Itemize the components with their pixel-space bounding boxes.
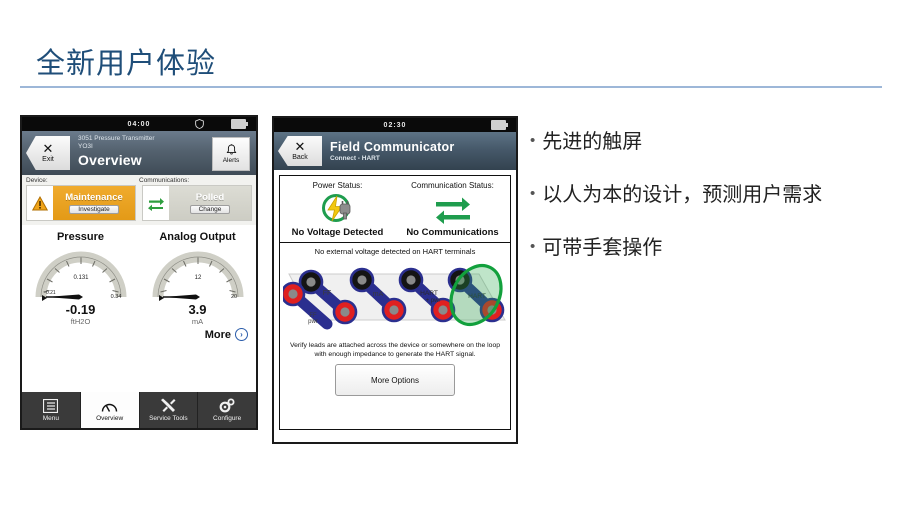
communication-status-value: No Communications [395, 227, 510, 238]
battery-icon [231, 119, 246, 129]
gauge-pressure: Pressure 0.131 [22, 231, 139, 326]
terminal-group-hart-highlighted: HART [441, 258, 511, 333]
gears-icon [219, 398, 235, 413]
device-status-value: Maintenance [65, 192, 123, 203]
menu-icon [43, 399, 58, 413]
battery-icon [491, 120, 506, 130]
gauge-pressure-mid-tick: 0.131 [73, 275, 89, 281]
strip-labels: Device: Communications: [26, 177, 252, 184]
bullet-text: 可带手套操作 [542, 234, 662, 261]
gauges-row: Pressure 0.131 [22, 225, 256, 326]
gauge-analog-output: Analog Output 12 [139, 231, 256, 326]
device-label: Device: [26, 177, 139, 184]
more-options-button[interactable]: More Options [335, 364, 455, 396]
two-arrows-icon [433, 193, 473, 225]
nav-label-configure: Configure [213, 415, 241, 422]
exit-button[interactable]: ✕ Exit [26, 136, 70, 170]
svg-text:HART: HART [420, 290, 438, 297]
gauge-analog-output-max-tick: 20 [230, 294, 236, 300]
power-status-label: Power Status: [280, 181, 395, 190]
list-item: • 先进的触屏 [530, 128, 880, 155]
terminal-diagram-box: No external voltage detected on HART ter… [279, 243, 511, 430]
screen-title: Overview [78, 152, 155, 168]
warning-triangle-icon [27, 196, 53, 211]
shield-icon [195, 119, 204, 129]
terminal-diagram: FF FF pwr mA [283, 258, 511, 338]
gauge-pressure-max-tick: 0.34 [110, 294, 121, 300]
gauge-analog-output-dial: 12 20 [150, 245, 246, 301]
status-strip: Device: Communications: Maintenance Inve [22, 175, 256, 225]
investigate-button[interactable]: Investigate [69, 205, 118, 214]
gauge-analog-output-mid-tick: 12 [194, 275, 201, 281]
bullet-dot-icon: • [530, 181, 535, 207]
bullet-text: 先进的触屏 [542, 128, 642, 155]
svg-text:pwr: pwr [308, 319, 318, 325]
nav-label-overview: Overview [96, 415, 123, 422]
close-icon: ✕ [43, 143, 54, 154]
svg-text:+ pwr: + pwr [426, 298, 441, 304]
communications-status-value: Polled [196, 192, 225, 203]
nav-label-service-tools: Service Tools [149, 415, 188, 422]
nav-label-menu: Menu [43, 415, 59, 422]
list-item: • 可带手套操作 [530, 234, 880, 261]
communications-status-card[interactable]: Polled Change [142, 185, 252, 221]
page-title: 全新用户体验 [36, 40, 216, 82]
change-button[interactable]: Change [190, 205, 231, 214]
communications-label: Communications: [139, 177, 189, 184]
svg-text:FF: FF [323, 290, 332, 297]
nav-item-overview[interactable]: Overview [81, 392, 140, 428]
device-header-left: ✕ Exit 3051 Pressure Transmitter YO3I Ov… [22, 131, 256, 175]
device-screen-field-communicator: 02:30 ✕ Back Field Communicator Connect … [272, 116, 518, 444]
gauge-analog-output-value: 3.9 [139, 302, 256, 317]
gauge-icon [101, 399, 118, 413]
title-divider [20, 86, 882, 88]
bullet-list: • 先进的触屏 • 以人为本的设计，预测用户需求 • 可带手套操作 [530, 128, 880, 287]
communications-status-body: Polled Change [169, 186, 251, 220]
gauge-pressure-value: -0.19 [22, 302, 139, 317]
nav-item-menu[interactable]: Menu [22, 392, 81, 428]
back-label: Back [292, 153, 308, 162]
close-icon: ✕ [295, 141, 306, 152]
bullet-dot-icon: • [530, 128, 535, 154]
tools-icon [160, 398, 176, 413]
chevron-right-icon: › [235, 328, 248, 341]
svg-text:mA: mA [373, 291, 384, 298]
gauge-pressure-min-tick: -0.21 [44, 290, 56, 296]
terminal-message: No external voltage detected on HART ter… [283, 247, 507, 256]
strip-cards: Maintenance Investigate Polled Change [26, 185, 252, 221]
power-status-block: Power Status: No Voltage Detected [280, 181, 395, 238]
terminal-note: Verify leads are attached across the dev… [283, 341, 507, 359]
power-plug-icon [319, 193, 357, 225]
status-row: Power Status: No Voltage Detected [279, 175, 511, 243]
device-status-card[interactable]: Maintenance Investigate [26, 185, 136, 221]
bullet-text: 以人为本的设计，预测用户需求 [542, 181, 822, 208]
gauge-analog-output-title: Analog Output [139, 231, 256, 243]
device-tag: YO3I [78, 143, 155, 151]
gauge-pressure-title: Pressure [22, 231, 139, 243]
screen-subtitle-right: Connect - HART [330, 155, 454, 163]
status-clock-right: 02:30 [384, 122, 407, 129]
two-arrows-icon [143, 196, 169, 211]
alerts-label: Alerts [223, 157, 240, 164]
bottom-nav: Menu Overview Service Tools [22, 392, 256, 428]
screen-title-right: Field Communicator [330, 139, 454, 155]
bell-icon [226, 144, 237, 156]
highlight-ellipse [441, 258, 511, 333]
list-item: • 以人为本的设计，预测用户需求 [530, 181, 880, 208]
more-button[interactable]: More › [22, 326, 256, 341]
device-screen-overview: 04:00 ✕ Exit 3051 Pressure Transmitter Y… [20, 115, 258, 430]
gauge-analog-output-unit: mA [139, 317, 256, 326]
gauge-pressure-unit: ftH2O [22, 317, 139, 326]
bullet-dot-icon: • [530, 234, 535, 260]
back-button[interactable]: ✕ Back [278, 136, 322, 166]
power-status-value: No Voltage Detected [280, 227, 395, 238]
nav-item-service-tools[interactable]: Service Tools [140, 392, 199, 428]
header-text-block-right: Field Communicator Connect - HART [330, 138, 454, 163]
slide: 全新用户体验 04:00 ✕ Exit 3051 Pressure Transm… [0, 0, 900, 506]
status-bar-left: 04:00 [22, 117, 256, 131]
communication-status-label: Communication Status: [395, 181, 510, 190]
alerts-button[interactable]: Alerts [212, 137, 250, 171]
more-label: More [205, 329, 231, 341]
nav-item-configure[interactable]: Configure [198, 392, 256, 428]
communication-status-block: Communication Status: No Communications [395, 181, 510, 238]
header-text-block: 3051 Pressure Transmitter YO3I Overview [78, 135, 155, 168]
status-bar-right: 02:30 [274, 118, 516, 132]
device-model: 3051 Pressure Transmitter [78, 135, 155, 143]
device-header-right: ✕ Back Field Communicator Connect - HART [274, 132, 516, 170]
gauge-pressure-dial: 0.131 0.34 -0.21 [33, 245, 129, 301]
status-clock: 04:00 [128, 121, 151, 128]
device-status-body: Maintenance Investigate [53, 186, 135, 220]
exit-label: Exit [42, 155, 54, 164]
field-communicator-body: Power Status: No Voltage Detected [274, 170, 516, 436]
